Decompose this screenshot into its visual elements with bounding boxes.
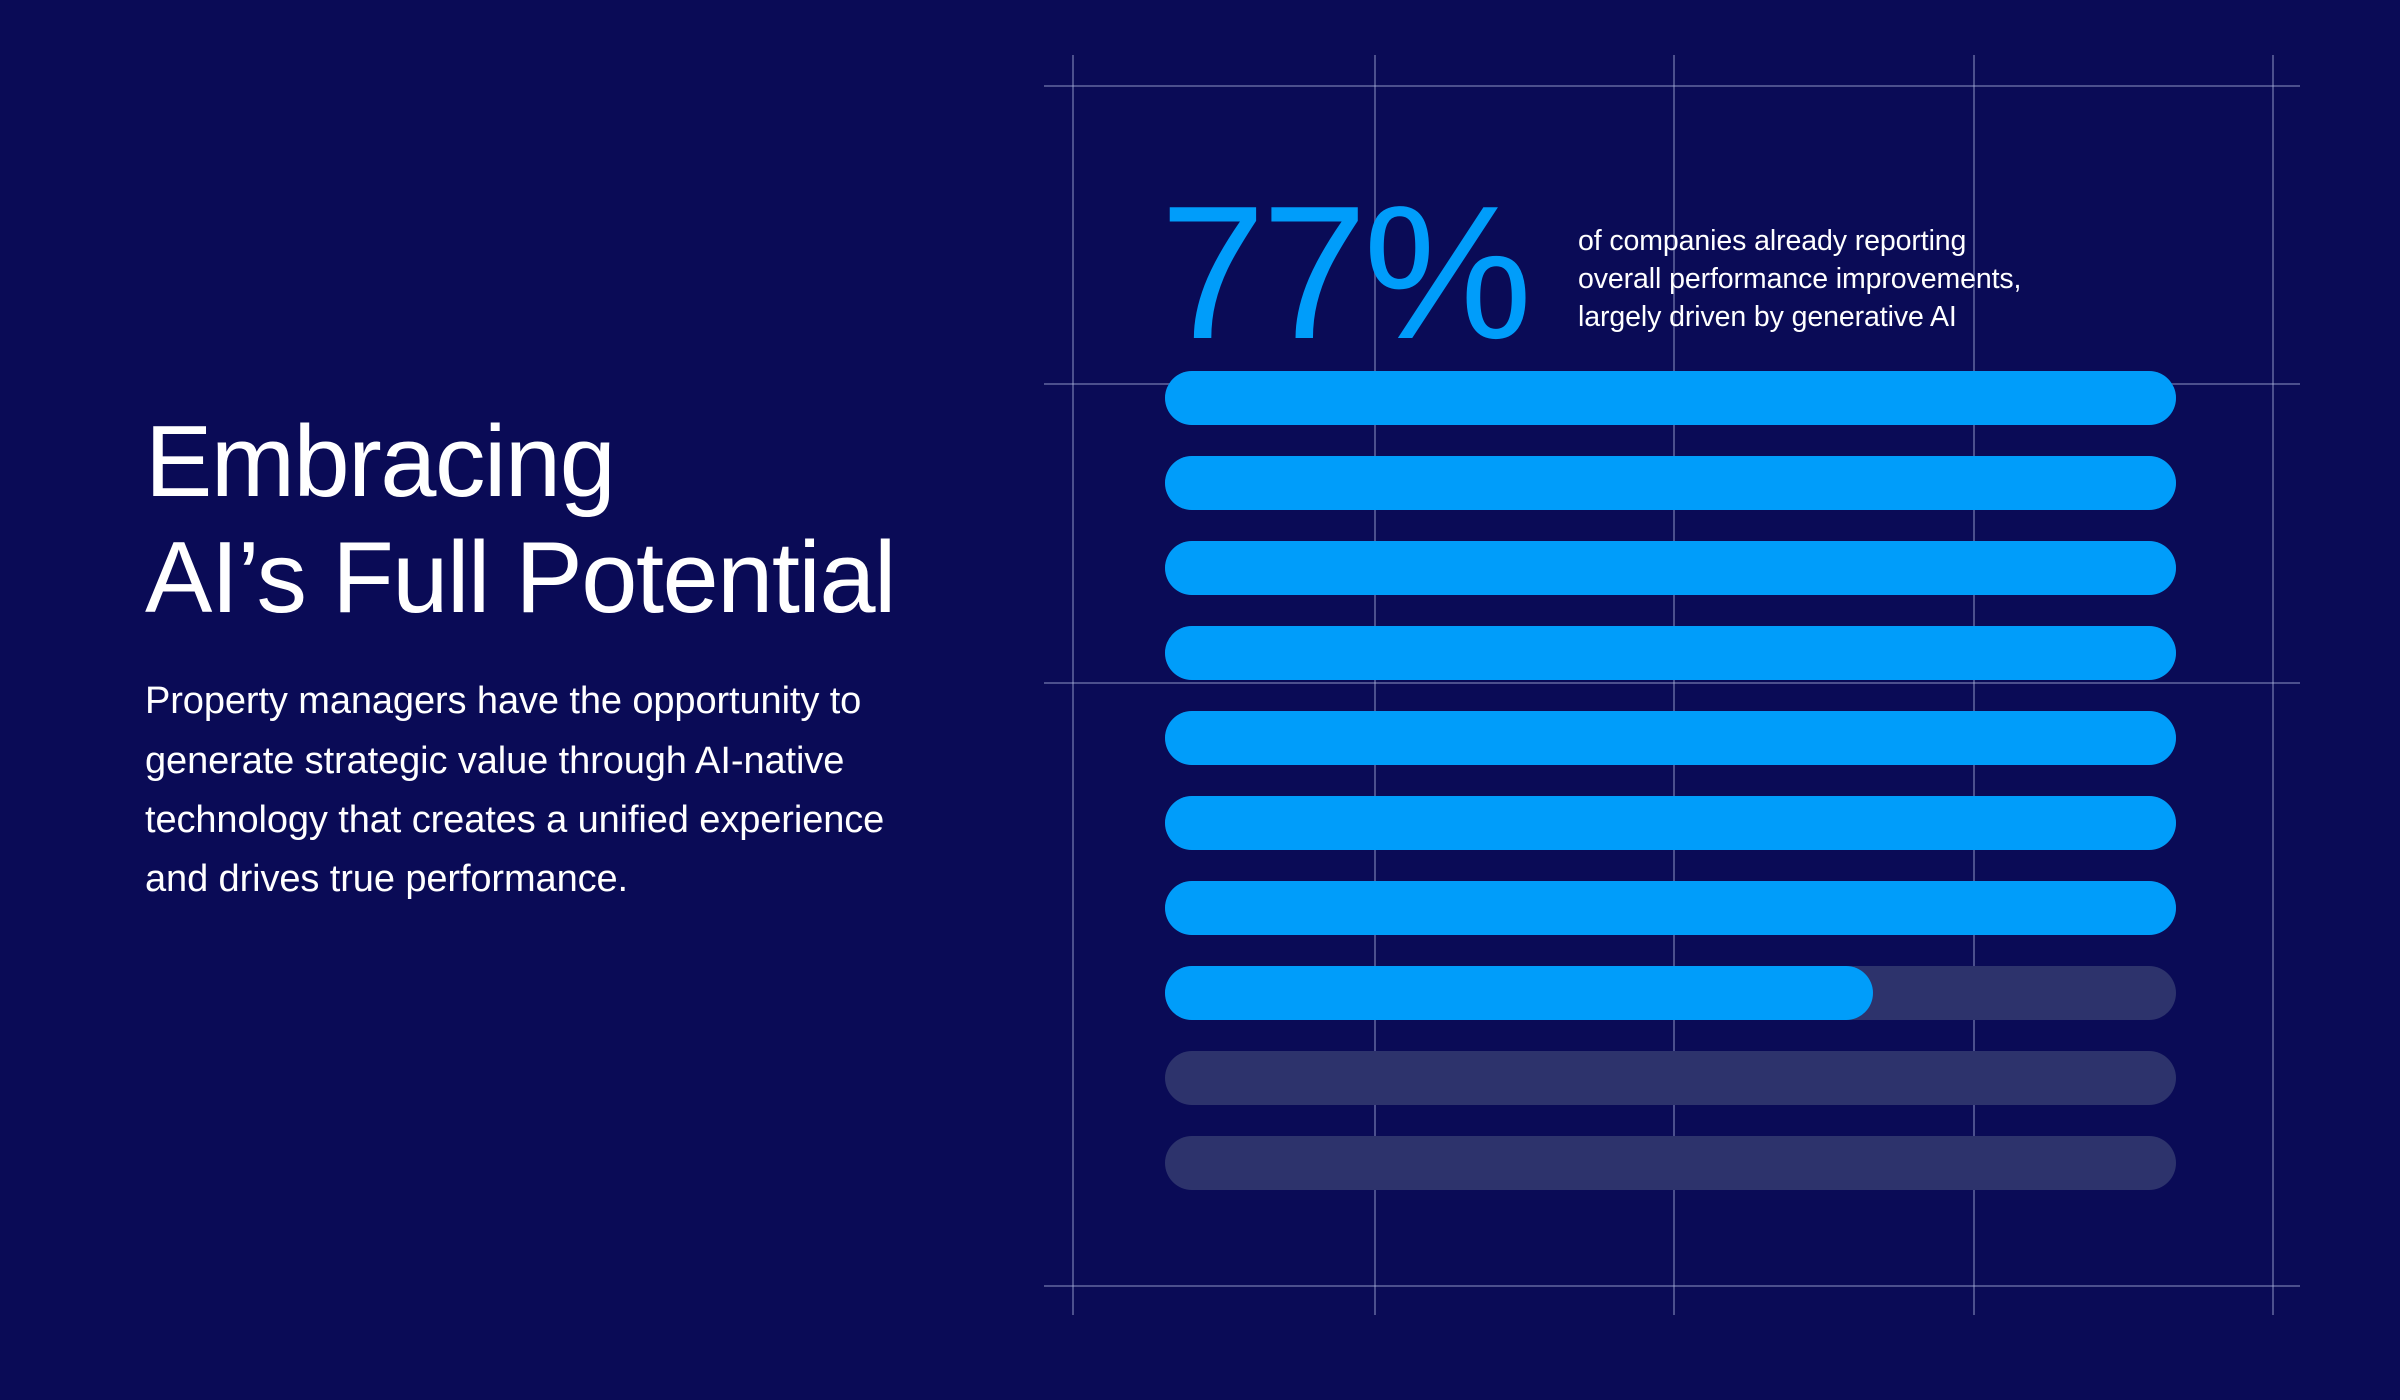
bar-row [1165, 966, 2176, 1020]
bar-fill [1165, 626, 2176, 680]
left-text-column: Embracing AI’s Full Potential Property m… [145, 404, 985, 909]
bar-track [1165, 1136, 2176, 1190]
stat-caption-line-2: overall performance improvements, [1578, 260, 2218, 298]
bar-fill [1165, 711, 2176, 765]
gridline-horizontal-4 [1044, 1285, 2300, 1287]
gridline-horizontal-1 [1044, 85, 2300, 87]
bar-row [1165, 1136, 2176, 1190]
bar-fill [1165, 371, 2176, 425]
bar-fill [1165, 796, 2176, 850]
stat-caption: of companies already reporting overall p… [1578, 222, 2218, 337]
bar-row [1165, 371, 2176, 425]
bar-track [1165, 1051, 2176, 1105]
stat-figure-value: 77% [1160, 178, 1528, 368]
bar-fill [1165, 456, 2176, 510]
bar-row [1165, 541, 2176, 595]
progress-bar-chart [1165, 371, 2176, 1221]
page-title: Embracing AI’s Full Potential [145, 404, 985, 636]
bar-row [1165, 796, 2176, 850]
slide-canvas: Embracing AI’s Full Potential Property m… [0, 0, 2400, 1400]
stat-caption-line-1: of companies already reporting [1578, 222, 2218, 260]
body-paragraph: Property managers have the opportunity t… [145, 672, 945, 909]
bar-fill [1165, 881, 2176, 935]
bar-row [1165, 456, 2176, 510]
gridline-vertical-5 [2272, 55, 2274, 1315]
bar-row [1165, 626, 2176, 680]
bar-fill [1165, 541, 2176, 595]
gridline-vertical-1 [1072, 55, 1074, 1315]
stat-caption-line-3: largely driven by generative AI [1578, 298, 2218, 336]
bar-row [1165, 711, 2176, 765]
bar-fill [1165, 966, 1873, 1020]
bar-row [1165, 1051, 2176, 1105]
bar-row [1165, 881, 2176, 935]
